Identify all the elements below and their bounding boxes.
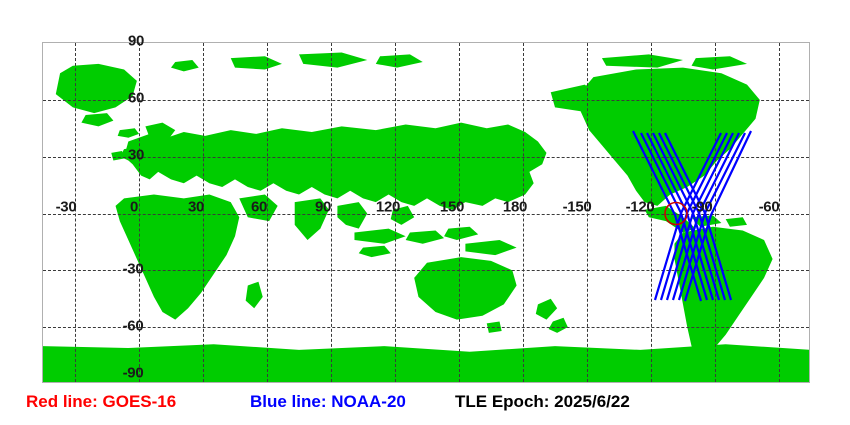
lon-tick--60: -60 (759, 199, 780, 216)
lon-tick-180: 180 (503, 199, 527, 216)
lon-tick--90: -90 (692, 199, 713, 216)
lon-tick-30: 30 (188, 199, 204, 216)
gridline-lon (715, 43, 716, 382)
lon-tick--120: -120 (626, 199, 655, 216)
lat-tick--90: -90 (123, 365, 144, 382)
lon-tick-60: 60 (251, 199, 267, 216)
lon-tick-0: 0 (130, 199, 138, 216)
lat-tick-30: 30 (128, 147, 144, 164)
gridline-lon (331, 43, 332, 382)
lon-tick-150: 150 (440, 199, 464, 216)
lat-tick--60: -60 (123, 318, 144, 335)
legend-tle-epoch: TLE Epoch: 2025/6/22 (455, 392, 630, 412)
gridline-lon (267, 43, 268, 382)
legend-red-line: Red line: GOES-16 (26, 392, 176, 412)
lat-tick-60: 60 (128, 90, 144, 107)
legend-blue-line: Blue line: NOAA-20 (250, 392, 406, 412)
gridline-lat (43, 270, 809, 271)
lon-tick--150: -150 (563, 199, 592, 216)
lon-tick-90: 90 (315, 199, 331, 216)
gridline-lat (43, 100, 809, 101)
legend-bar: Red line: GOES-16 Blue line: NOAA-20 TLE… (0, 392, 850, 425)
lon-tick-120: 120 (376, 199, 400, 216)
gridline-lat (43, 327, 809, 328)
lat-tick--30: -30 (123, 261, 144, 278)
lon-tick--30: -30 (56, 199, 77, 216)
lat-tick-90: 90 (128, 33, 144, 50)
gridline-lat (43, 157, 809, 158)
